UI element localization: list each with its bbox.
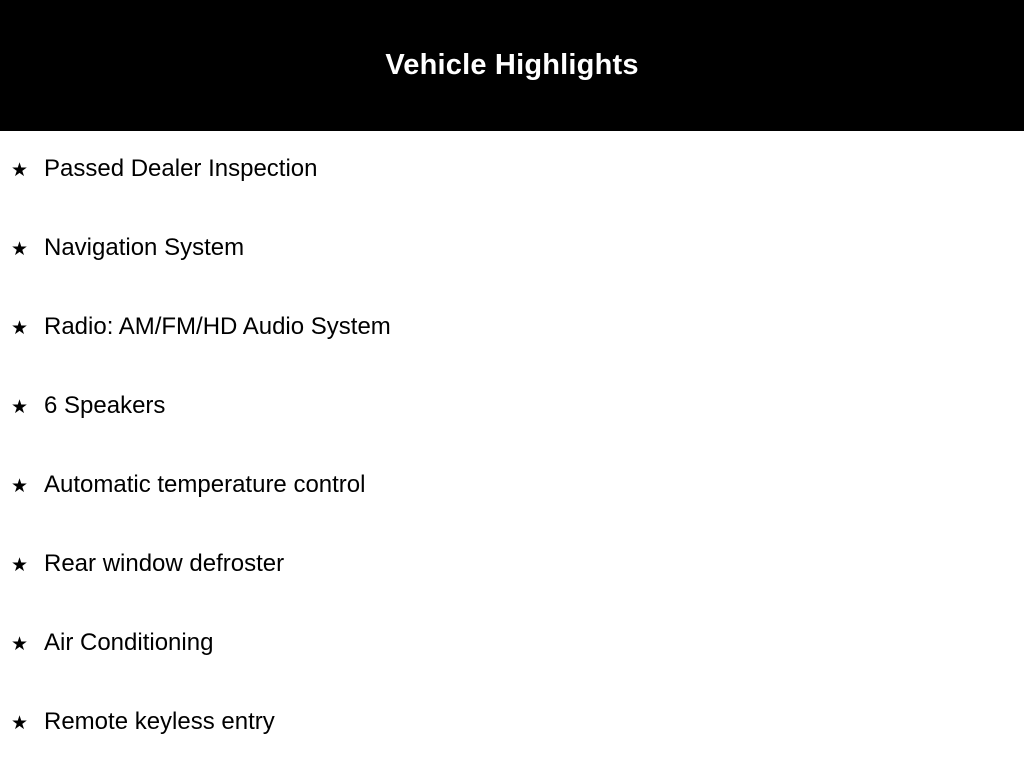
star-icon: ★ [11, 714, 44, 733]
list-item: ★ Remote keyless entry [0, 710, 1024, 768]
vehicle-highlights-page: Vehicle Highlights ★ Passed Dealer Inspe… [0, 0, 1024, 768]
list-item: ★ Radio: AM/FM/HD Audio System [0, 315, 1024, 394]
list-item: ★ Air Conditioning [0, 631, 1024, 710]
highlight-label: Air Conditioning [44, 631, 1024, 655]
list-item: ★ Passed Dealer Inspection [0, 131, 1024, 236]
list-item: ★ 6 Speakers [0, 394, 1024, 473]
list-item: ★ Navigation System [0, 236, 1024, 315]
highlight-label: Radio: AM/FM/HD Audio System [44, 315, 1024, 339]
star-icon: ★ [11, 477, 44, 496]
highlight-label: Remote keyless entry [44, 710, 1024, 734]
highlight-label: Navigation System [44, 236, 1024, 260]
highlight-label: Passed Dealer Inspection [44, 157, 1024, 181]
highlight-label: 6 Speakers [44, 394, 1024, 418]
star-icon: ★ [11, 240, 44, 259]
star-icon: ★ [11, 319, 44, 338]
highlight-label: Rear window defroster [44, 552, 1024, 576]
vehicle-highlights-list: ★ Passed Dealer Inspection ★ Navigation … [0, 131, 1024, 768]
list-item: ★ Rear window defroster [0, 552, 1024, 631]
star-icon: ★ [11, 556, 44, 575]
star-icon: ★ [11, 635, 44, 654]
star-icon: ★ [11, 398, 44, 417]
page-header: Vehicle Highlights [0, 0, 1024, 131]
list-item: ★ Automatic temperature control [0, 473, 1024, 552]
page-title: Vehicle Highlights [385, 51, 638, 80]
highlight-label: Automatic temperature control [44, 473, 1024, 497]
star-icon: ★ [11, 161, 44, 180]
